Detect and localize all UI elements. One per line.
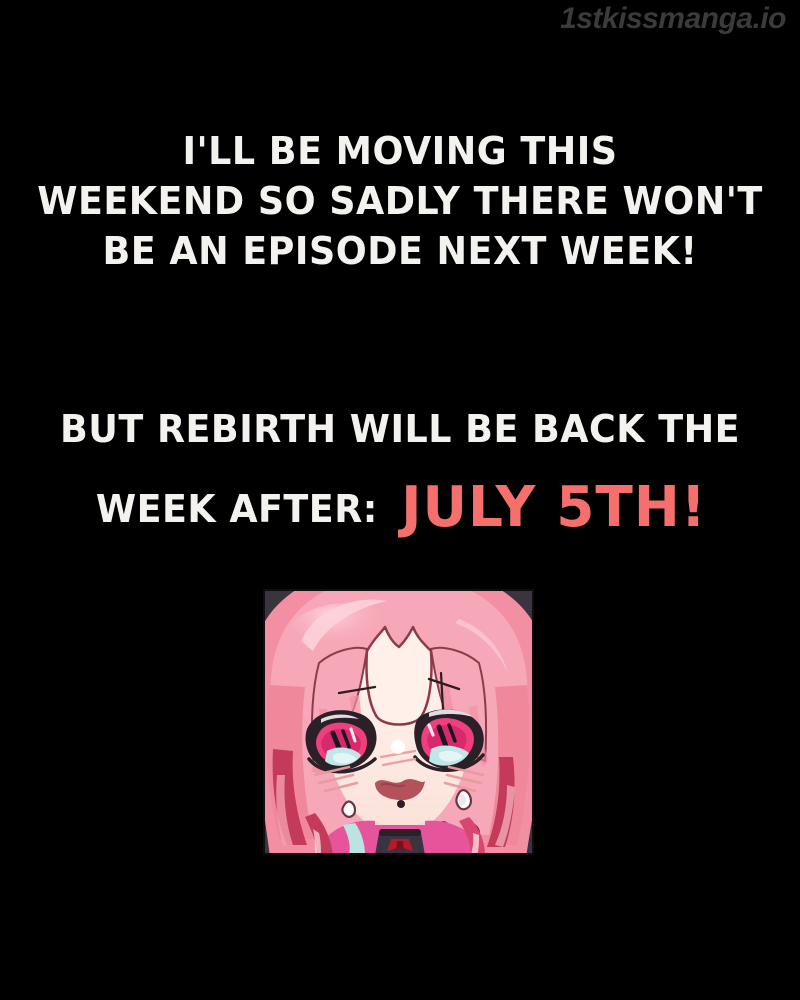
return-date-row: WEEK AFTER: JULY 5TH! xyxy=(0,476,800,532)
return-date-value: JULY 5TH! xyxy=(401,480,707,536)
chibi-crying-illustration xyxy=(263,589,534,855)
announcement-line-1: I'LL BE MOVING THIS xyxy=(16,132,784,170)
return-notice-line: BUT REBIRTH WILL BE BACK THE xyxy=(16,410,784,448)
announcement-line-2: WEEKEND SO SADLY THERE WON'T xyxy=(16,182,784,220)
announcement-block-two: BUT REBIRTH WILL BE BACK THE WEEK AFTER:… xyxy=(0,410,800,532)
comic-announcement-page: 1stkissmanga.io I'LL BE MOVING THIS WEEK… xyxy=(0,0,800,1000)
return-date-prefix: WEEK AFTER: xyxy=(96,487,378,531)
announcement-line-3: BE AN EPISODE NEXT WEEK! xyxy=(16,232,784,270)
chibi-crying-svg xyxy=(263,589,534,855)
site-watermark: 1stkissmanga.io xyxy=(560,2,786,36)
announcement-block-one: I'LL BE MOVING THIS WEEKEND SO SADLY THE… xyxy=(0,132,800,282)
